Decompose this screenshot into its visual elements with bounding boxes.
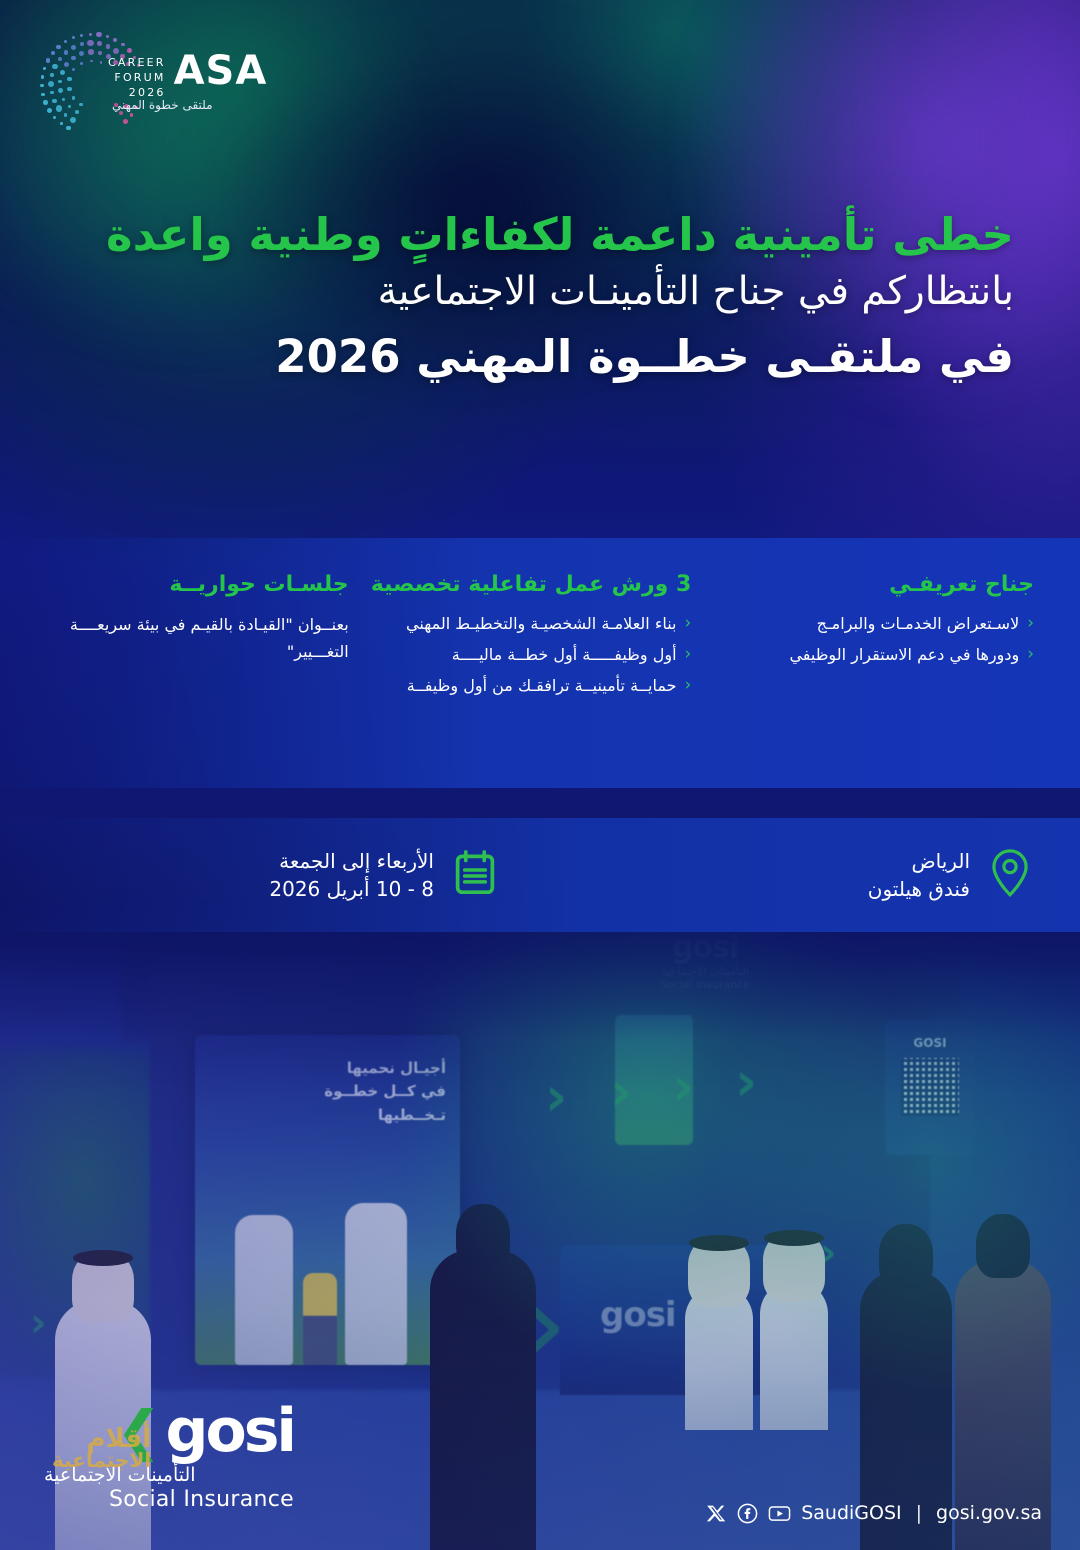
gosi-arabic-name: التأمينات الاجتماعية	[44, 1464, 294, 1486]
headline-green: خطى تأمينية داعمة لكفاءاتٍ وطنية واعدة	[66, 208, 1014, 261]
program-column-sessions: جلسـات حواريــة بعنــوان "القيـادة بالقي…	[20, 572, 349, 768]
gosi-wordmark: gosi	[166, 1404, 294, 1458]
event-info-bar: الرياض فندق هيلتون الأربعاء إلى الجمعة 8…	[0, 818, 1080, 932]
gosi-logo: gosi ❯ التأمينات الاجتماعية Social Insur…	[44, 1404, 294, 1512]
chevron-left-icon: ‹	[1027, 642, 1034, 668]
headline-block: خطى تأمينية داعمة لكفاءاتٍ وطنية واعدة ب…	[66, 208, 1014, 386]
logo-name: ASA	[174, 52, 268, 90]
headline-bold: في ملتقـى خطــوة المهني 2026	[66, 328, 1014, 387]
list-item: ‹ لاسـتعراض الخدمـات والبرامـج	[705, 611, 1034, 637]
location-text: الرياض فندق هيلتون	[868, 847, 970, 904]
social-footer: SaudiGOSI | gosi.gov.sa	[706, 1502, 1042, 1524]
list-item: ‹ ودورها في دعم الاستقرار الوظيفي	[705, 642, 1034, 668]
location-info: الرياض فندق هيلتون	[508, 847, 1080, 904]
chevron-left-icon: ‹	[685, 611, 692, 637]
column-title: جلسـات حواريــة	[20, 572, 349, 597]
asa-forum-logo: ASA CAREER FORUM 2026 ملتقى خطوة المهني	[40, 28, 270, 136]
program-columns: جناح تعريفـي ‹ لاسـتعراض الخدمـات والبرا…	[0, 538, 1080, 788]
date-info: الأربعاء إلى الجمعة 8 - 10 أبريل 2026	[0, 847, 508, 904]
x-icon[interactable]	[706, 1503, 727, 1524]
logo-line-forum: FORUM	[108, 70, 166, 85]
chevron-left-icon: ‹	[1027, 611, 1034, 637]
poster-root: gosi التأمينات الاجتماعية Social Insuran…	[0, 0, 1080, 1550]
gosi-chevron-icon: ❯	[116, 1409, 161, 1453]
map-pin-icon	[988, 848, 1032, 902]
date-text: الأربعاء إلى الجمعة 8 - 10 أبريل 2026	[269, 847, 434, 904]
date-days: الأربعاء إلى الجمعة	[269, 847, 434, 875]
program-column-pavilion: جناح تعريفـي ‹ لاسـتعراض الخدمـات والبرا…	[705, 572, 1034, 768]
list-item: ‹ حمايــة تأمينيــة ترافقـك من أول وظيفـ…	[363, 673, 692, 699]
list-item-label: ودورها في دعم الاستقرار الوظيفي	[705, 642, 1019, 668]
chevron-left-icon: ‹	[685, 642, 692, 668]
logo-subtitle: CAREER FORUM 2026	[108, 52, 166, 101]
logo-line-career: CAREER	[108, 55, 166, 70]
headline-white: بانتظاركم في جناح التأمينـات الاجتماعية	[66, 267, 1014, 318]
program-column-workshops: 3 ورش عمل تفاعلية تخصصية ‹ بناء العلامـة…	[363, 572, 692, 768]
location-venue: فندق هيلتون	[868, 875, 970, 903]
website-url[interactable]: gosi.gov.sa	[936, 1502, 1042, 1524]
gosi-english-name: Social Insurance	[44, 1487, 294, 1512]
social-separator: |	[912, 1502, 926, 1524]
facebook-icon[interactable]	[737, 1503, 758, 1524]
chevron-left-icon: ‹	[685, 673, 692, 699]
logo-text-block: ASA CAREER FORUM 2026	[108, 52, 267, 101]
column-item-list: ‹ لاسـتعراض الخدمـات والبرامـج ‹ ودورها …	[705, 611, 1034, 668]
logo-arabic-name: ملتقى خطوة المهني	[112, 98, 213, 112]
program-panel: جناح تعريفـي ‹ لاسـتعراض الخدمـات والبرا…	[0, 538, 1080, 788]
list-item-label: بناء العلامـة الشخصيـة والتخطيـط المهني	[363, 611, 677, 637]
column-item-list: ‹ بناء العلامـة الشخصيـة والتخطيـط المهن…	[363, 611, 692, 699]
gosi-logo-row: gosi ❯	[44, 1404, 294, 1458]
column-paragraph: بعنــوان "القيـادة بالقيـم في بيئة سريعـ…	[20, 611, 349, 665]
list-item-label: لاسـتعراض الخدمـات والبرامـج	[705, 611, 1019, 637]
location-city: الرياض	[868, 847, 970, 875]
youtube-icon[interactable]	[768, 1503, 791, 1524]
column-title: جناح تعريفـي	[705, 572, 1034, 597]
list-item-label: أول وظيفـــــة أول خطــة ماليــــة	[363, 642, 677, 668]
column-title: 3 ورش عمل تفاعلية تخصصية	[363, 572, 692, 597]
list-item-label: حمايــة تأمينيــة ترافقـك من أول وظيفــة	[363, 673, 677, 699]
list-item: ‹ بناء العلامـة الشخصيـة والتخطيـط المهن…	[363, 611, 692, 637]
social-handle: SaudiGOSI	[801, 1502, 901, 1524]
calendar-icon	[452, 849, 498, 901]
date-range: 8 - 10 أبريل 2026	[269, 875, 434, 903]
list-item: ‹ أول وظيفـــــة أول خطــة ماليــــة	[363, 642, 692, 668]
